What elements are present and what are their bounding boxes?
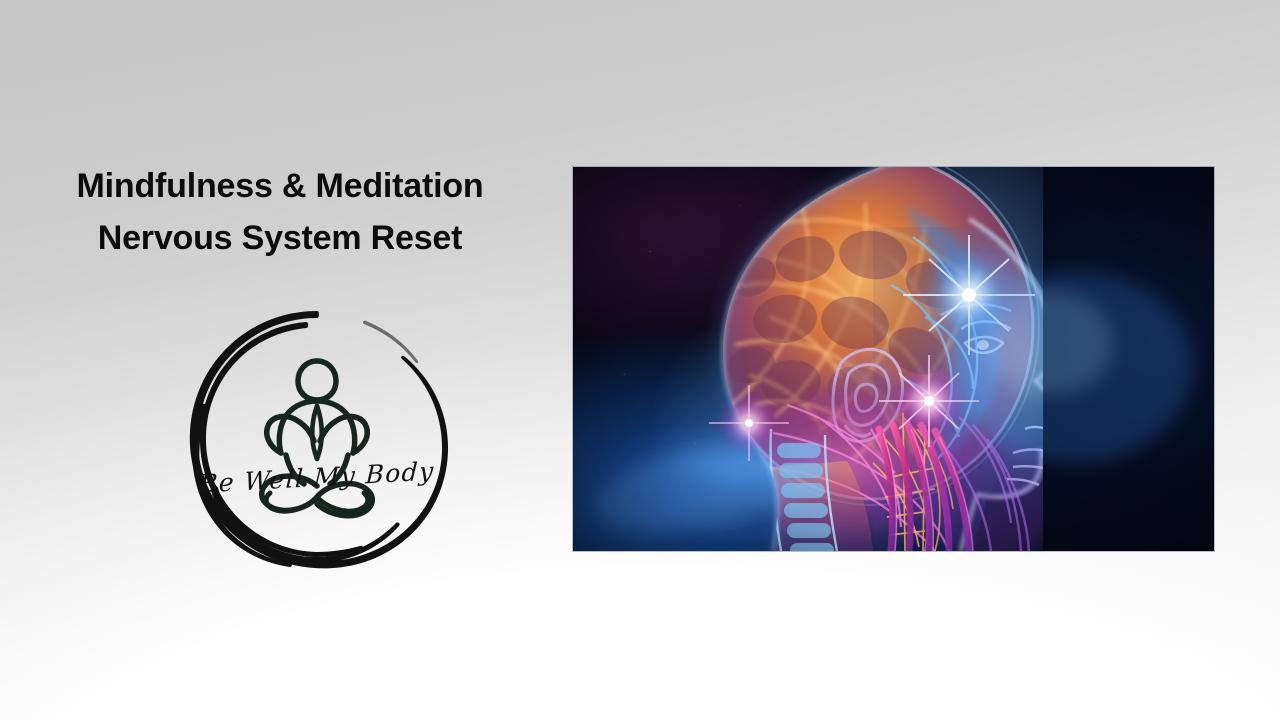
title-line-1: Mindfulness & Meditation bbox=[20, 160, 540, 212]
slide-canvas: Mindfulness & Meditation Nervous System … bbox=[0, 0, 1280, 720]
brand-logo: Be Well My Body bbox=[178, 305, 456, 577]
meditation-figure-icon bbox=[262, 361, 373, 516]
left-content-column: Mindfulness & Meditation Nervous System … bbox=[0, 0, 560, 720]
brain-anatomy-image bbox=[573, 167, 1214, 551]
page-title: Mindfulness & Meditation Nervous System … bbox=[20, 160, 540, 264]
photo-vignette-layer bbox=[573, 167, 1214, 551]
title-line-2: Nervous System Reset bbox=[20, 212, 540, 264]
